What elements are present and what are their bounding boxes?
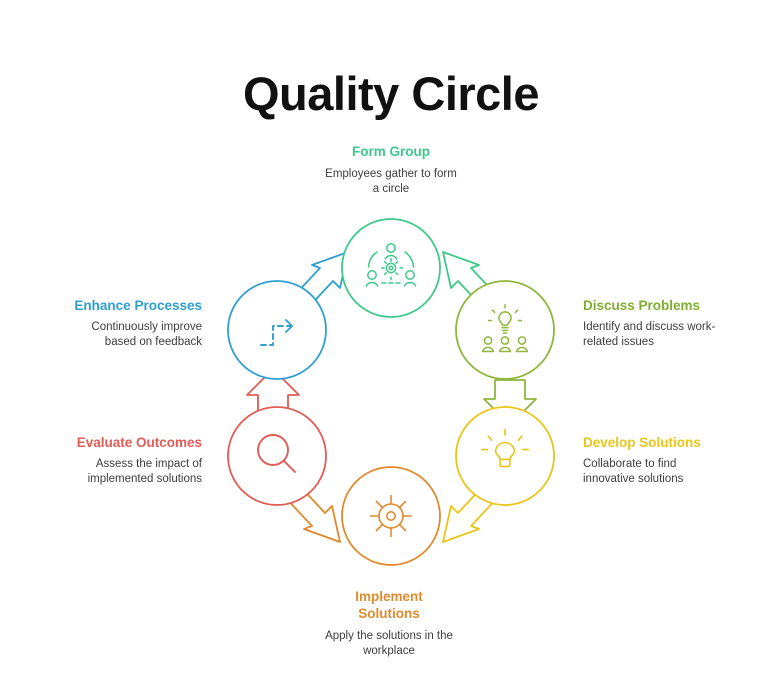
step-label-evaluate-outcomes: Evaluate Outcomes bbox=[2, 434, 202, 451]
step-circle-form-group[interactable] bbox=[342, 219, 440, 317]
step-label-discuss-problems: Discuss Problems bbox=[583, 297, 782, 314]
step-label-form-group: Form Group bbox=[291, 143, 491, 160]
step-node-enhance-processes[interactable] bbox=[228, 281, 326, 379]
step-description-line: Apply the solutions in the bbox=[289, 629, 489, 644]
step-description-implement-solutions: Apply the solutions in the workplace bbox=[289, 629, 489, 659]
step-circle-evaluate-outcomes[interactable] bbox=[228, 407, 326, 505]
step-node-implement-solutions[interactable] bbox=[342, 467, 440, 565]
step-description-line: based on feedback bbox=[17, 335, 202, 350]
step-node-form-group[interactable] bbox=[342, 219, 440, 317]
step-description-line: Identify and discuss work- bbox=[583, 320, 768, 335]
step-description-line: Collaborate to find bbox=[583, 457, 768, 472]
step-circle-develop-solutions[interactable] bbox=[456, 407, 554, 505]
step-description-line: workplace bbox=[289, 644, 489, 659]
step-circle-enhance-processes[interactable] bbox=[228, 281, 326, 379]
step-node-evaluate-outcomes[interactable] bbox=[228, 407, 326, 505]
step-label-line: Implement bbox=[289, 588, 489, 605]
step-description-enhance-processes: Continuously improve based on feedback bbox=[17, 320, 202, 350]
step-description-line: innovative solutions bbox=[583, 472, 768, 487]
step-label-develop-solutions: Develop Solutions bbox=[583, 434, 782, 451]
step-label-implement-solutions: Implement Solutions bbox=[289, 588, 489, 622]
step-description-discuss-problems: Identify and discuss work- related issue… bbox=[583, 320, 768, 350]
step-description-develop-solutions: Collaborate to find innovative solutions bbox=[583, 457, 768, 487]
step-label-enhance-processes: Enhance Processes bbox=[2, 297, 202, 314]
step-label-line: Solutions bbox=[289, 605, 489, 622]
step-circle-implement-solutions[interactable] bbox=[342, 467, 440, 565]
step-node-discuss-problems[interactable] bbox=[456, 281, 554, 379]
step-description-line: related issues bbox=[583, 335, 768, 350]
step-node-develop-solutions[interactable] bbox=[456, 407, 554, 505]
step-description-line: a circle bbox=[291, 182, 491, 197]
step-description-form-group: Employees gather to form a circle bbox=[291, 167, 491, 197]
step-description-line: Continuously improve bbox=[17, 320, 202, 335]
step-description-line: implemented solutions bbox=[17, 472, 202, 487]
step-description-line: Assess the impact of bbox=[17, 457, 202, 472]
step-description-line: Employees gather to form bbox=[291, 167, 491, 182]
step-description-evaluate-outcomes: Assess the impact of implemented solutio… bbox=[17, 457, 202, 487]
